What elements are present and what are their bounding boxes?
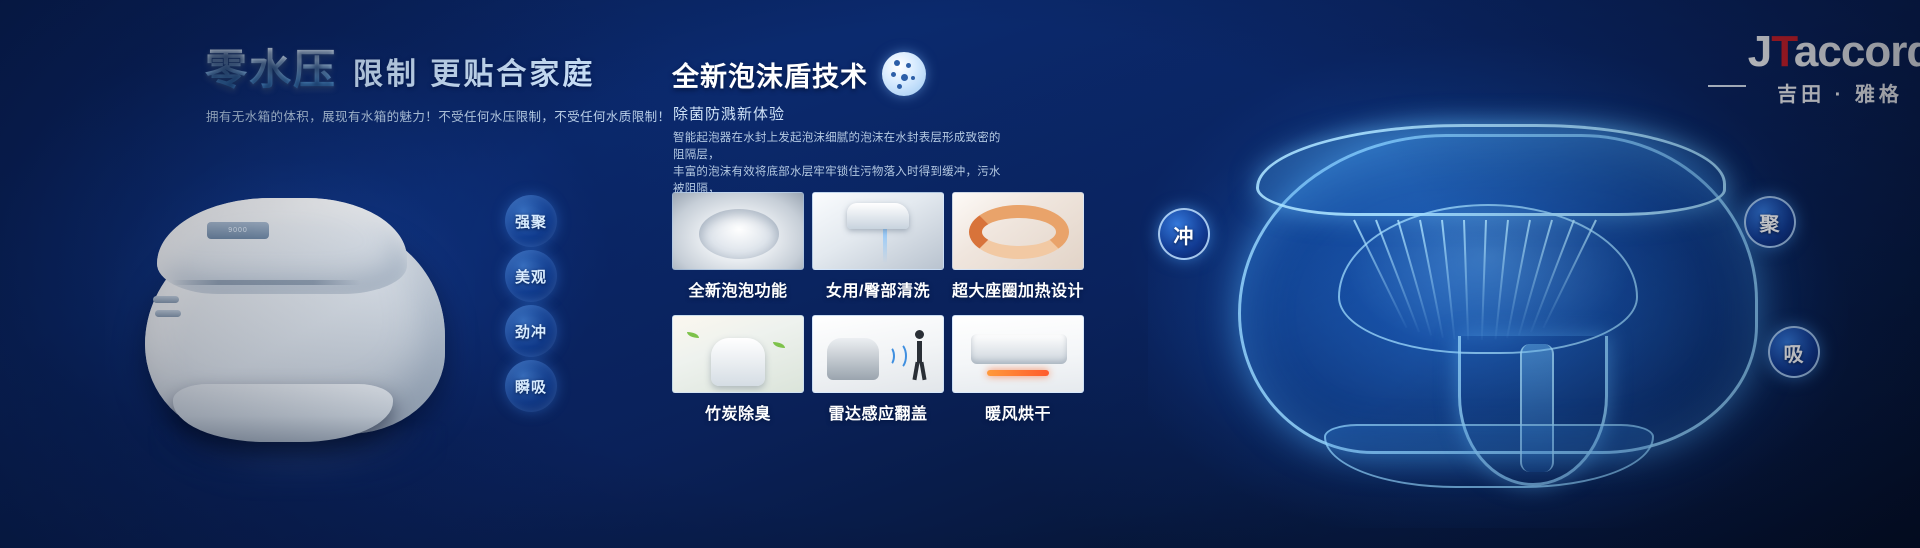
paragraph-line: 智能起泡器在水封上发起泡沫细腻的泡沫在水封表层形成致密的阻隔层， [673, 130, 1003, 164]
nozzle-wash-thumb [812, 192, 944, 270]
badge-label: 聚 [1760, 208, 1781, 237]
heat-indicator-icon [987, 370, 1049, 376]
leaf-icon [687, 332, 699, 338]
heated-seat-ring-thumb [952, 192, 1084, 270]
feature-cell-foam[interactable]: 全新泡泡功能 [672, 192, 804, 309]
brand-logo[interactable]: JTaccord 吉田 · 雅格 [1690, 28, 1920, 92]
person-icon [913, 330, 925, 382]
chip-meiguan[interactable]: 美观 [505, 250, 557, 302]
feature-cell-deodorize[interactable]: 竹炭除臭 [672, 315, 804, 432]
feature-caption: 女用/臀部清洗 [812, 270, 944, 309]
chip-label: 美观 [515, 266, 547, 287]
headline-sub-text: 限制 更贴合家庭 [353, 49, 595, 97]
badge-gather[interactable]: 聚 [1744, 196, 1796, 248]
leaf-icon [773, 342, 785, 348]
toilet-control-panel: 9000 [207, 222, 269, 239]
radar-sensor-lid-thumb [812, 315, 944, 393]
badge-suction[interactable]: 吸 [1768, 326, 1820, 378]
headline-description: 拥有无水箱的体积，展现有水箱的魅力！不受任何水压限制，不受任何水质限制！ [206, 106, 670, 125]
feature-grid-row: 全新泡泡功能 女用/臀部清洗 超大座圈加热设计 [672, 192, 1084, 309]
feature-cell-heated-seat[interactable]: 超大座圈加热设计 [952, 192, 1084, 309]
signal-wave-icon [889, 342, 907, 370]
middle-title-row: 全新泡沫盾技术 [672, 52, 926, 96]
chip-label: 强聚 [515, 211, 547, 232]
feature-caption: 全新泡泡功能 [672, 270, 804, 309]
left-panel: 零水压 限制 更贴合家庭 拥有无水箱的体积，展现有水箱的魅力！不受任何水压限制，… [0, 0, 640, 548]
bowl-foam-thumb [672, 192, 804, 270]
feature-cell-wash[interactable]: 女用/臀部清洗 [812, 192, 944, 309]
feature-caption: 竹炭除臭 [672, 393, 804, 432]
leaf-icon [719, 376, 731, 382]
bamboo-charcoal-thumb [672, 315, 804, 393]
chip-jinchong[interactable]: 劲冲 [505, 305, 557, 357]
toilet-side-button-2 [155, 310, 181, 317]
chip-qiangju[interactable]: 强聚 [505, 195, 557, 247]
left-feature-chip-list: 强聚 美观 劲冲 瞬吸 [505, 195, 585, 415]
brand-logo-cn: 吉田 · 雅格 [1690, 78, 1920, 107]
brand-logo-text: JTaccord [1690, 28, 1920, 76]
middle-subtitle: 除菌防溅新体验 [673, 103, 785, 124]
product-banner: 零水压 限制 更贴合家庭 拥有无水箱的体积，展现有水箱的魅力！不受任何水压限制，… [0, 0, 1920, 548]
badge-flush[interactable]: 冲 [1158, 208, 1210, 260]
toilet-panel-label: 9000 [228, 227, 248, 234]
logo-divider-rule: 吉田 · 雅格 [1690, 78, 1920, 92]
chip-shunxi[interactable]: 瞬吸 [505, 360, 557, 412]
badge-label: 吸 [1784, 338, 1805, 367]
logo-jt: JT [1748, 27, 1794, 76]
logo-accord: accord [1794, 27, 1920, 76]
feature-caption: 雷达感应翻盖 [812, 393, 944, 432]
toilet-seam [171, 280, 361, 285]
warm-air-dry-thumb [952, 315, 1084, 393]
feature-cell-warm-dry[interactable]: 暖风烘干 [952, 315, 1084, 432]
chip-label: 瞬吸 [515, 376, 547, 397]
feature-caption: 暖风烘干 [952, 393, 1084, 432]
xray-toilet-cutaway-diagram: 冲 聚 吸 [1148, 108, 1848, 528]
diagram-flow-ribs [1353, 220, 1623, 340]
logo-letter-j: J [1748, 27, 1771, 76]
feature-cell-radar-lid[interactable]: 雷达感应翻盖 [812, 315, 944, 432]
left-headline: 零水压 限制 更贴合家庭 [205, 36, 595, 97]
foam-bubbles-icon [882, 52, 926, 96]
feature-grid: 全新泡泡功能 女用/臀部清洗 超大座圈加热设计 [672, 192, 1084, 438]
feature-grid-row: 竹炭除臭 雷达感应翻盖 [672, 315, 1084, 432]
headline-main-text: 零水压 [205, 36, 337, 97]
middle-panel: 全新泡沫盾技术 除菌防溅新体验 智能起泡器在水封上发起泡沫细腻的泡沫在水封表层形… [660, 0, 1110, 548]
logo-letter-t: T [1771, 27, 1794, 76]
feature-caption: 超大座圈加热设计 [952, 270, 1084, 309]
right-panel: JTaccord 吉田 · 雅格 [1130, 0, 1920, 548]
chip-label: 劲冲 [515, 321, 547, 342]
toilet-side-button-1 [153, 296, 179, 303]
badge-label: 冲 [1174, 220, 1195, 249]
middle-title: 全新泡沫盾技术 [672, 55, 868, 94]
product-photo-toilet: 9000 [95, 130, 485, 460]
